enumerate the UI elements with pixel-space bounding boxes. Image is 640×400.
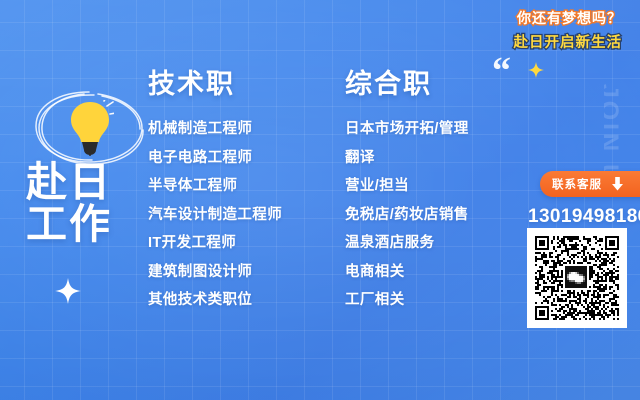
list-item: 建筑制图设计师: [148, 265, 282, 280]
slogan-primary: 你还有梦想吗？: [517, 8, 622, 28]
slogan-secondary: 赴日开启新生活: [514, 31, 623, 52]
list-item: 电商相关: [345, 265, 469, 280]
main-title-line1: 赴日: [26, 162, 156, 204]
contact-support-label: 联系客服: [552, 176, 602, 192]
phone-number[interactable]: 13019498186: [528, 206, 640, 228]
qr-code-image: [533, 234, 621, 322]
list-item: 半导体工程师: [148, 179, 282, 194]
list-item: 汽车设计制造工程师: [148, 208, 282, 223]
list-item: 工厂相关: [345, 293, 469, 308]
page-title: 赴日 工作: [26, 162, 156, 246]
poster-canvas: 赴日 工作 技术职 机械制造工程师 电子电路工程师 半导体工程师 汽车设计制造工…: [0, 0, 640, 400]
list-item: 日本市场开拓/管理: [345, 122, 469, 137]
sparkle-star-icon: [528, 62, 544, 78]
quote-mark-icon: “: [492, 52, 511, 90]
list-item: 翻译: [345, 151, 469, 166]
sparkle-star-icon: [55, 278, 81, 304]
job-list-general: 日本市场开拓/管理 翻译 营业/担当 免税店/药妆店销售 温泉酒店服务 电商相关…: [345, 122, 469, 308]
main-title-line2: 工作: [26, 204, 156, 246]
list-item: 营业/担当: [345, 179, 469, 194]
contact-support-button[interactable]: 联系客服: [540, 171, 640, 197]
job-list-technical: 机械制造工程师 电子电路工程师 半导体工程师 汽车设计制造工程师 IT开发工程师…: [148, 122, 282, 308]
lightbulb-icon: [66, 100, 114, 156]
list-item: 温泉酒店服务: [345, 236, 469, 251]
arrow-down-icon: [611, 177, 624, 191]
list-item: 电子电路工程师: [148, 151, 282, 166]
job-column-general: 综合职 日本市场开拓/管理 翻译 营业/担当 免税店/药妆店销售 温泉酒店服务 …: [345, 62, 469, 322]
list-item: 免税店/药妆店销售: [345, 208, 469, 223]
qr-code[interactable]: [527, 228, 627, 328]
job-column-technical: 技术职 机械制造工程师 电子电路工程师 半导体工程师 汽车设计制造工程师 IT开…: [148, 62, 282, 322]
list-item: 机械制造工程师: [148, 122, 282, 137]
column-heading-technical: 技术职: [148, 62, 282, 101]
list-item: IT开发工程师: [148, 236, 282, 251]
column-heading-general: 综合职: [345, 62, 469, 101]
list-item: 其他技术类职位: [148, 293, 282, 308]
join-watermark-text: JOIN U: [604, 84, 623, 185]
